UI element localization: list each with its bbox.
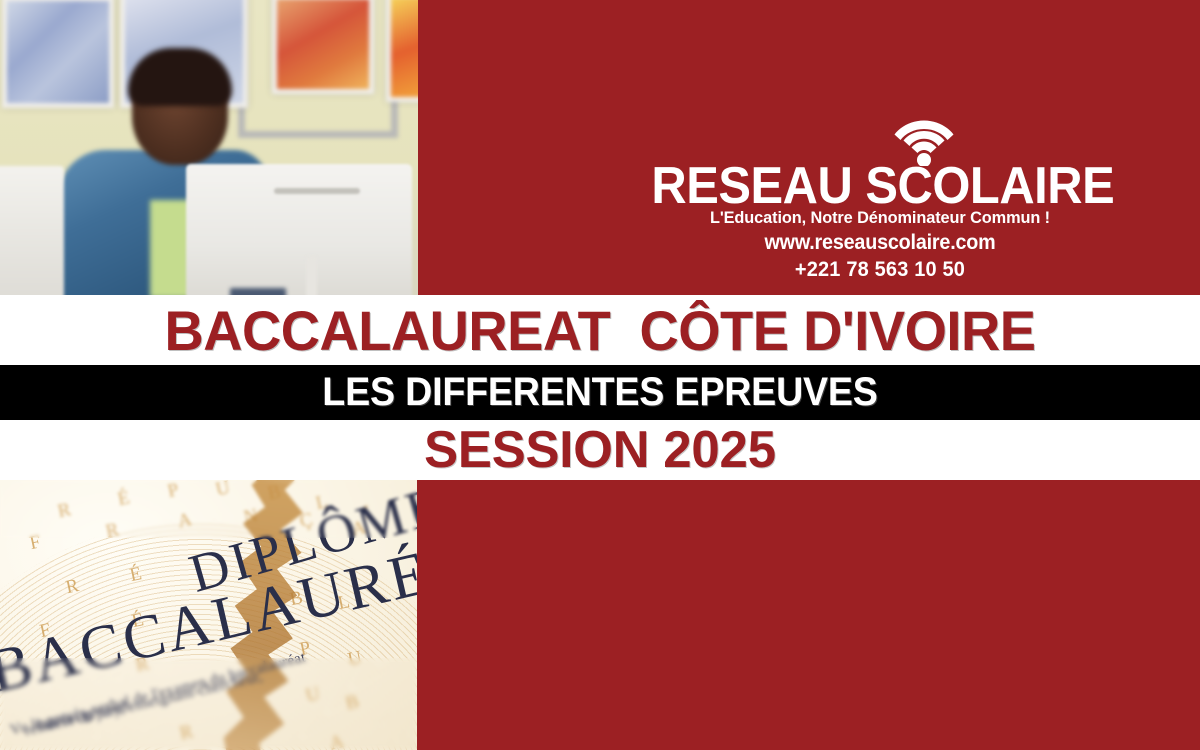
logo-website: www.reseauscolaire.com <box>579 231 1181 255</box>
headline-title: BACCALAUREAT CÔTE D'IVOIRE <box>18 297 1182 363</box>
monitor-secondary <box>0 166 64 295</box>
monitor-vent <box>274 188 360 194</box>
photo-blur-bottom <box>0 658 417 750</box>
logo-tagline: L'Education, Notre Dénominateur Commun ! <box>573 208 1187 228</box>
wall-artwork-1 <box>2 0 114 108</box>
keyboard <box>230 288 286 295</box>
logo-phone: +221 78 563 10 50 <box>576 258 1184 282</box>
student-at-computer-photo <box>0 0 418 295</box>
headline-subtitle: LES DIFFERENTES EPREUVES <box>36 366 1164 419</box>
logo-name: RESEAU SCOLAIRE <box>579 160 1181 212</box>
wall-artwork-3 <box>272 0 374 94</box>
monitor-primary <box>186 164 412 295</box>
baccalaureat-diploma-photo: R É P U B L I F R A N Ç A R É B L F É P … <box>0 480 417 750</box>
monitor-stand <box>306 256 317 295</box>
session-label: SESSION 2025 <box>12 421 1188 479</box>
wall-artwork-4 <box>386 0 418 102</box>
poster-canvas: R É P U B L I F R A N Ç A R É B L F É P … <box>0 0 1200 750</box>
photo-blur-top <box>0 480 417 538</box>
brand-logo: RESEAU SCOLAIRE L'Education, Notre Dénom… <box>560 100 1200 290</box>
